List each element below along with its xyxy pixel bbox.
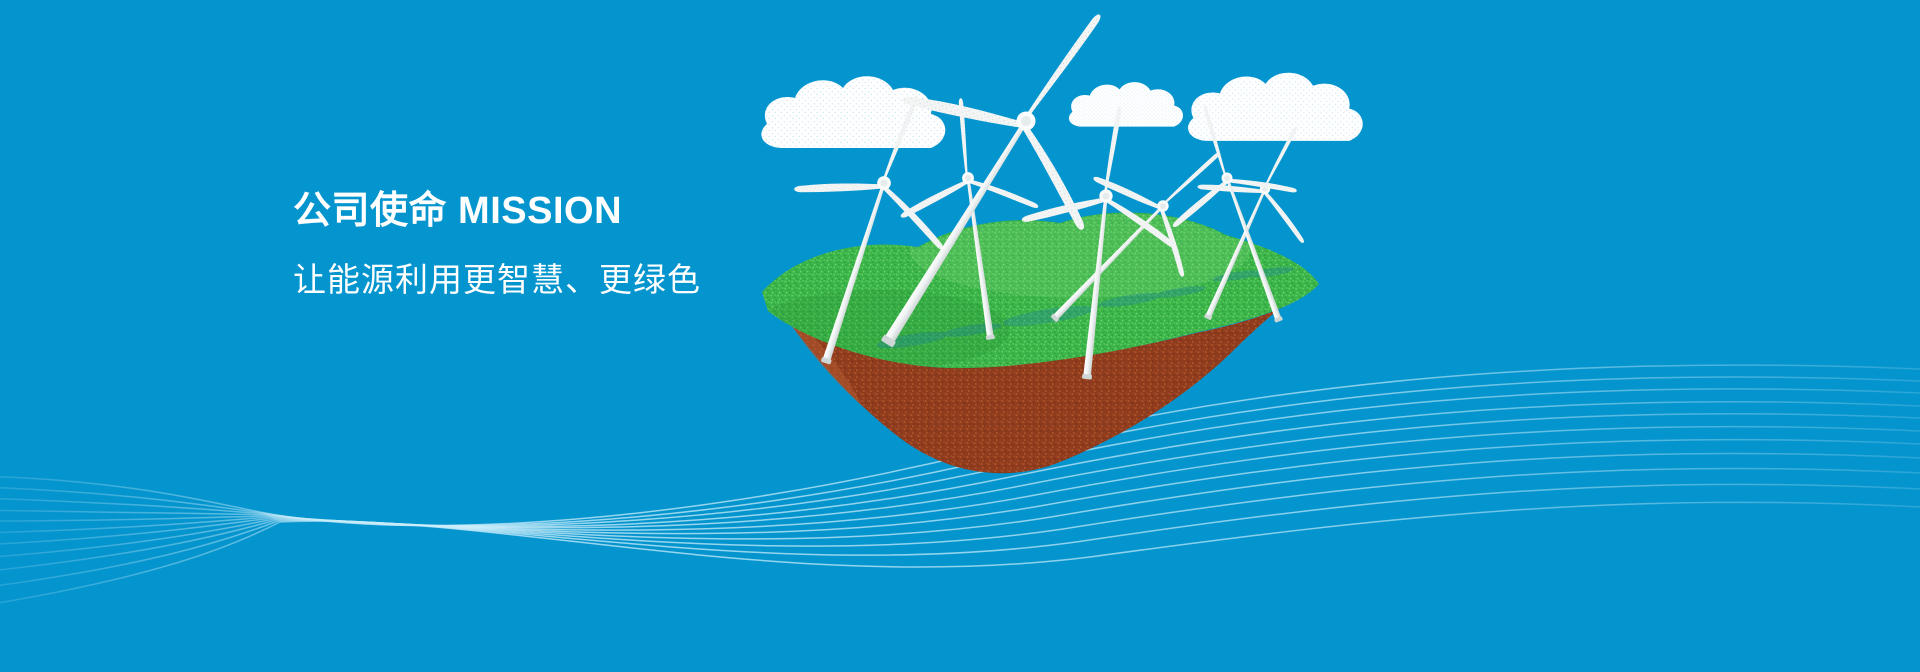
cloud-right <box>1188 73 1363 141</box>
cloud-left <box>761 76 945 148</box>
mission-banner: 公司使命 MISSION 让能源利用更智慧、更绿色 <box>0 0 1920 672</box>
turbine-7 <box>1150 100 1346 342</box>
cloud-middle <box>1069 82 1183 126</box>
turbine-5 <box>1003 102 1262 364</box>
wave-ribbons-decoration <box>0 0 1920 672</box>
mission-copy-block: 公司使命 MISSION 让能源利用更智慧、更绿色 <box>293 190 993 299</box>
page-subtitle: 让能源利用更智慧、更绿色 <box>293 260 993 300</box>
floating-island-wind-farm-illustration <box>0 0 1920 672</box>
page-title: 公司使命 MISSION <box>293 190 993 234</box>
turbine-6 <box>1138 87 1337 345</box>
turbine-4 <box>1006 97 1189 386</box>
island-soil <box>781 283 1318 473</box>
